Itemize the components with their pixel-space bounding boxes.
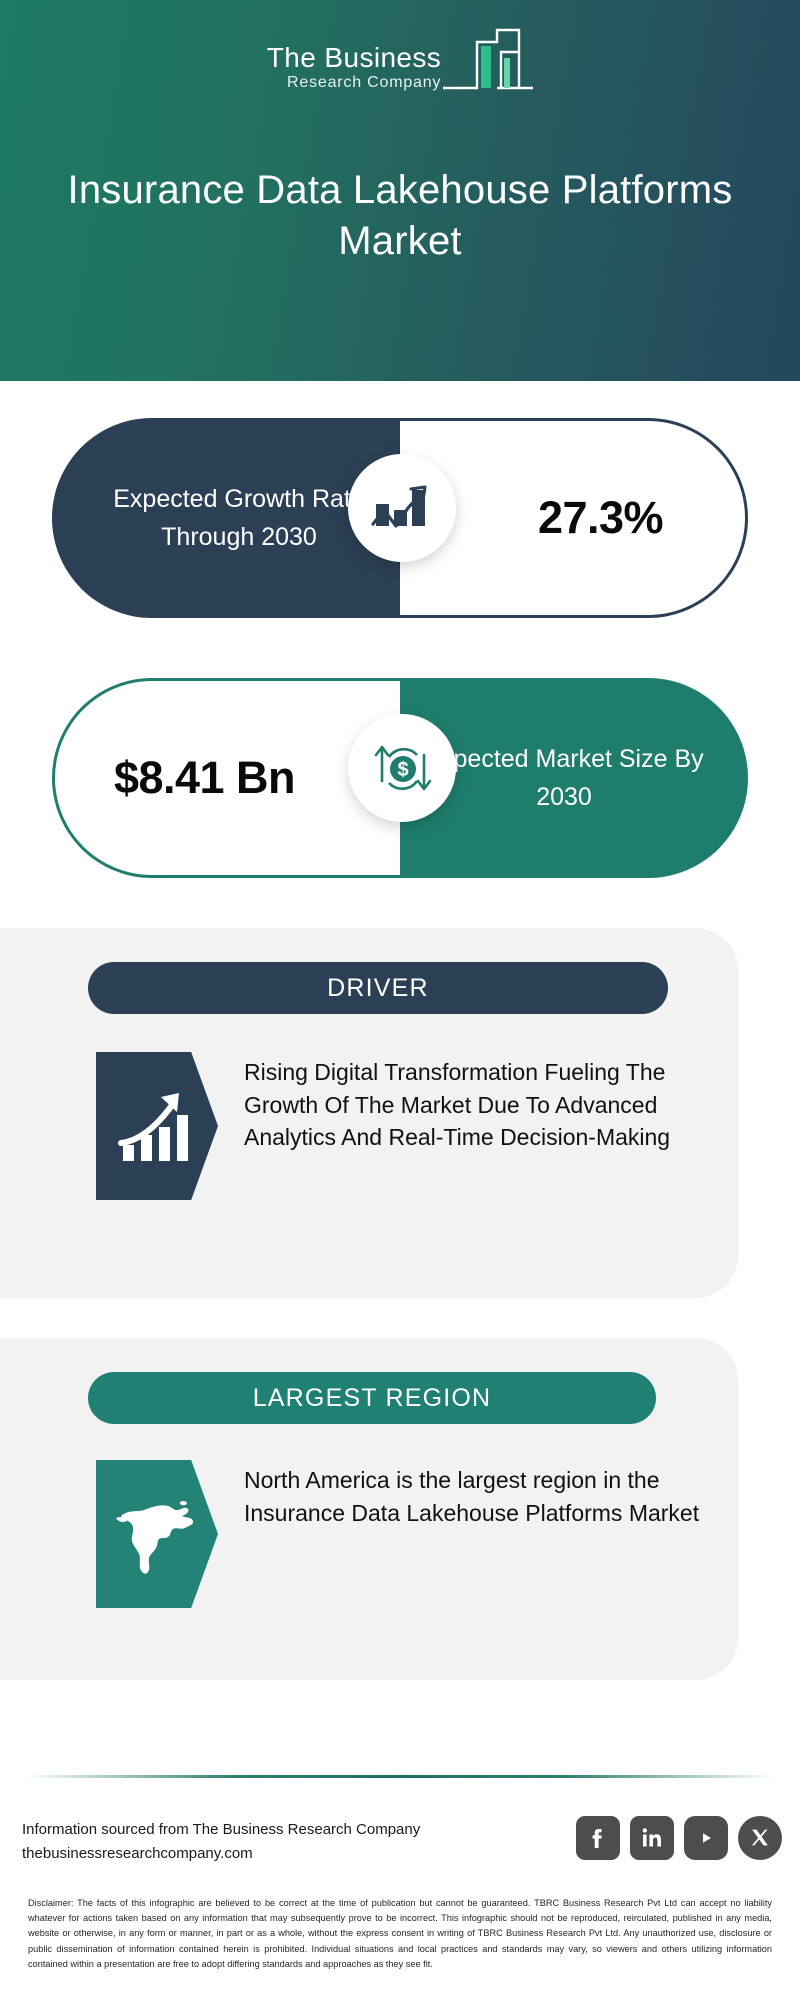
facebook-icon[interactable] xyxy=(576,1816,620,1860)
growth-chart-arrow-icon xyxy=(96,1052,218,1200)
driver-text: Rising Digital Transformation Fueling Th… xyxy=(244,1052,700,1154)
source-attribution: Information sourced from The Business Re… xyxy=(22,1818,420,1867)
stat-card-market-size: $8.41 Bn Expected Market Size By 2030 $ xyxy=(52,678,748,878)
source-line-1: Information sourced from The Business Re… xyxy=(22,1818,420,1842)
logo-line-1: The Business xyxy=(267,43,441,72)
market-size-value: $8.41 Bn xyxy=(114,753,295,803)
panel-largest-region: LARGEST REGION North America is the larg… xyxy=(0,1338,738,1680)
growth-label-panel: Expected Growth Rate Through 2030 xyxy=(52,418,400,618)
dollar-cycle-icon: $ xyxy=(348,714,456,822)
social-links xyxy=(576,1816,782,1860)
bar-chart-growth-icon xyxy=(348,454,456,562)
market-size-value-panel: $8.41 Bn xyxy=(52,678,400,878)
driver-body: Rising Digital Transformation Fueling Th… xyxy=(96,1052,700,1200)
company-logo: The Business Research Company xyxy=(0,26,800,94)
panel-driver: DRIVER Rising Digital Transformation Fue… xyxy=(0,928,738,1298)
x-twitter-icon[interactable] xyxy=(738,1816,782,1860)
disclaimer-text: Disclaimer: The facts of this infographi… xyxy=(28,1896,772,1972)
largest-region-pill-label: LARGEST REGION xyxy=(253,1384,492,1413)
largest-region-text: North America is the largest region in t… xyxy=(244,1460,700,1529)
infographic-page: The Business Research Company Insurance … xyxy=(0,0,800,2000)
logo-wordmark: The Business Research Company xyxy=(267,43,443,94)
linkedin-icon[interactable] xyxy=(630,1816,674,1860)
stat-card-growth-rate: Expected Growth Rate Through 2030 27.3% xyxy=(52,418,748,618)
largest-region-body: North America is the largest region in t… xyxy=(96,1460,700,1608)
largest-region-pill: LARGEST REGION xyxy=(88,1372,656,1424)
youtube-icon[interactable] xyxy=(684,1816,728,1860)
svg-text:$: $ xyxy=(397,759,408,781)
header-banner: The Business Research Company Insurance … xyxy=(0,0,800,381)
driver-pill-label: DRIVER xyxy=(327,974,429,1003)
logo-line-2: Research Company xyxy=(267,72,441,94)
driver-pill: DRIVER xyxy=(88,962,668,1014)
logo-bars-icon xyxy=(441,26,533,92)
footer-divider xyxy=(24,1775,776,1778)
north-america-map-icon xyxy=(96,1460,218,1608)
source-line-2[interactable]: thebusinessresearchcompany.com xyxy=(22,1842,420,1866)
growth-rate-value: 27.3% xyxy=(538,493,663,543)
page-title: Insurance Data Lakehouse Platforms Marke… xyxy=(50,165,750,267)
